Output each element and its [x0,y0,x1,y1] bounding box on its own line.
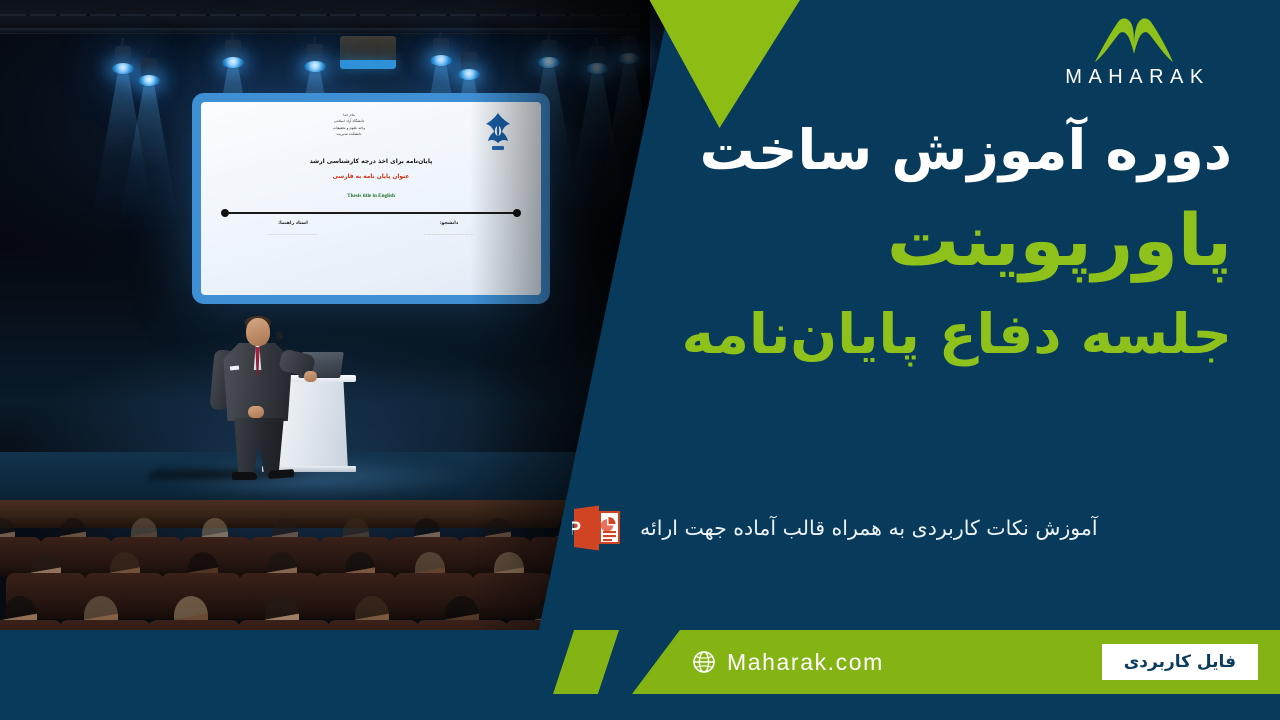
website-link[interactable]: Maharak.com [692,649,884,676]
website-text: Maharak.com [727,649,884,676]
file-badge[interactable]: فایل کاربردی [1102,644,1258,680]
maharak-mountain-logo-icon [1091,16,1177,64]
spotlight-icon [304,44,326,74]
svg-text:P: P [572,519,581,540]
brand-name: MAHARAK [1044,66,1224,89]
subtitle-row: آموزش نکات کاربردی به همراه قالب آماده ج… [572,505,1232,551]
presenter-head [246,318,270,346]
credit-supervisor: استاد راهنما: ..........................… [215,221,371,236]
globe-icon [692,650,716,674]
spotlight-icon [112,46,134,76]
credit-supervisor-dots: ................................ [215,231,371,236]
headline-line-1: دوره آموزش ساخت [632,122,1232,178]
spotlight-icon [222,40,244,70]
subtitle-text: آموزش نکات کاربردی به همراه قالب آماده ج… [640,516,1098,540]
headline-line-3: جلسه دفاع پایان‌نامه [632,306,1232,362]
headline: دوره آموزش ساخت پاورپوینت جلسه دفاع پایا… [632,122,1232,362]
presenter-hand-right [304,371,317,382]
footer-left-navy [0,630,560,694]
footer-content: Maharak.com فایل کاربردی [632,630,1280,694]
spotlight-icon [430,38,452,68]
powerpoint-icon: P [572,505,622,551]
headline-line-2: پاورپوینت [632,204,1232,277]
credit-supervisor-label: استاد راهنما: [215,221,371,226]
banner-canvas: بنام خدا دانشگاه آزاد اسلامی واحد علوم و… [0,0,1280,720]
footer: Maharak.com فایل کاربردی [0,610,1280,720]
slide-header-lines: بنام خدا دانشگاه آزاد اسلامی واحد علوم و… [215,110,483,137]
slide-header-line-4: دانشکده مدیریت [215,131,483,137]
presenter-shoe-left [232,472,257,480]
presenter-hand-left [248,406,264,418]
ceiling-projector-icon [340,36,396,62]
presenter-figure [196,318,314,478]
brand-logo[interactable]: MAHARAK [1044,16,1224,89]
presenter-legs [232,418,286,476]
footer-green-accent [553,630,619,694]
presenter-shoe-right [268,469,294,479]
footer-base-strip [0,694,1280,720]
spotlight-icon [138,58,160,88]
